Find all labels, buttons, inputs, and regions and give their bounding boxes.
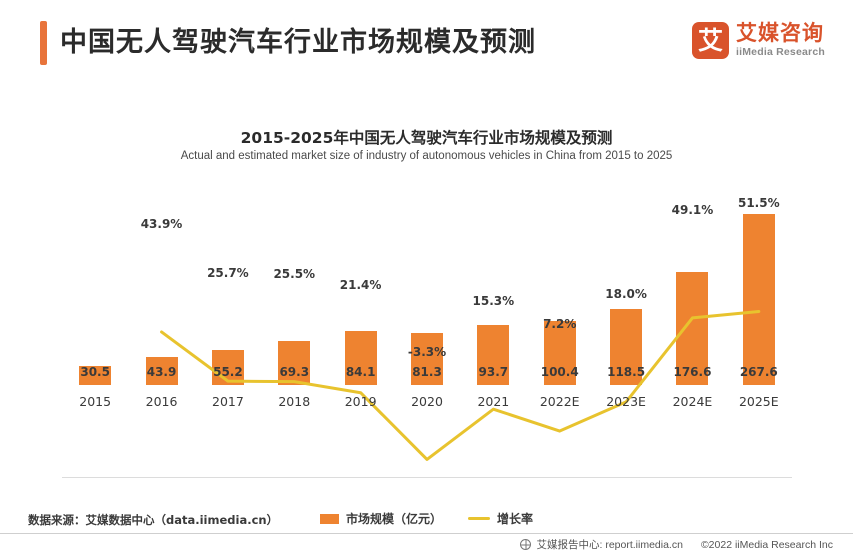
logo-name-cn: 艾媒咨询 (736, 23, 825, 44)
bar-value-2020: 81.3 (397, 365, 457, 379)
x-axis-line (62, 477, 792, 478)
bar-value-2024E: 176.6 (662, 365, 722, 379)
chart-subtitle: Actual and estimated market size of indu… (0, 150, 853, 162)
x-label-2015: 2015 (60, 394, 130, 409)
footer-report-label: 艾媒报告中心: report.iimedia.cn (536, 537, 682, 552)
growth-label-2025E: 51.5% (728, 196, 790, 210)
growth-label-2016: 43.9% (131, 217, 193, 231)
bar-value-2023E: 118.5 (596, 365, 656, 379)
legend-bar-swatch-icon (320, 514, 339, 524)
x-label-2016: 2016 (127, 394, 197, 409)
data-source-note: 数据来源：艾媒数据中心（data.iimedia.cn） (28, 512, 278, 528)
x-label-2018: 2018 (259, 394, 329, 409)
growth-label-2021: 15.3% (462, 294, 524, 308)
growth-label-2018: 25.5% (263, 267, 325, 281)
x-label-2022E: 2022E (525, 394, 595, 409)
title-accent-bar (40, 21, 47, 65)
footer-report-link[interactable]: 艾媒报告中心: report.iimedia.cn (520, 537, 682, 552)
chart-card: 2015-2025年中国无人驾驶汽车行业市场规模及预测 Actual and e… (0, 92, 853, 495)
x-label-2019: 2019 (326, 394, 396, 409)
footer-copyright: ©2022 iiMedia Research Inc (701, 539, 833, 551)
page-title: 中国无人驾驶汽车行业市场规模及预测 (60, 20, 536, 66)
bar-value-2018: 69.3 (264, 365, 324, 379)
legend-item-market-size[interactable]: 市场规模（亿元） (320, 510, 442, 527)
growth-label-2023E: 18.0% (595, 287, 657, 301)
x-label-2025E: 2025E (724, 394, 794, 409)
bar-value-2016: 43.9 (132, 365, 192, 379)
growth-label-2020: -3.3% (396, 345, 458, 359)
bar-value-2019: 84.1 (331, 365, 391, 379)
brand-logo: 艾 艾媒咨询 iiMedia Research (692, 22, 825, 59)
growth-label-2022E: 7.2% (529, 317, 591, 331)
x-label-2020: 2020 (392, 394, 462, 409)
x-label-2024E: 2024E (657, 394, 727, 409)
x-label-2023E: 2023E (591, 394, 661, 409)
bar-value-2017: 55.2 (198, 365, 258, 379)
x-label-2021: 2021 (458, 394, 528, 409)
growth-label-2024E: 49.1% (661, 203, 723, 217)
bar-2025E[interactable] (743, 214, 775, 385)
legend-label-market-size: 市场规模（亿元） (346, 510, 442, 527)
legend-line-swatch-icon (468, 517, 490, 520)
logo-mark-icon: 艾 (692, 22, 729, 59)
growth-label-2017: 25.7% (197, 266, 259, 280)
globe-icon (520, 539, 531, 550)
bar-value-2021: 93.7 (463, 365, 523, 379)
legend-label-growth-rate: 增长率 (497, 510, 533, 527)
x-label-2017: 2017 (193, 394, 263, 409)
bar-value-2025E: 267.6 (729, 365, 789, 379)
page-header: 中国无人驾驶汽车行业市场规模及预测 艾 艾媒咨询 iiMedia Researc… (0, 0, 853, 92)
growth-label-2019: 21.4% (330, 278, 392, 292)
legend-item-growth-rate[interactable]: 增长率 (468, 510, 533, 527)
chart-title: 2015-2025年中国无人驾驶汽车行业市场规模及预测 (0, 126, 853, 148)
logo-text: 艾媒咨询 iiMedia Research (736, 23, 825, 58)
bar-value-2015: 30.5 (65, 365, 125, 379)
logo-name-en: iiMedia Research (736, 47, 825, 58)
page-footer: 艾媒报告中心: report.iimedia.cn ©2022 iiMedia … (0, 534, 853, 555)
bar-value-2022E: 100.4 (530, 365, 590, 379)
